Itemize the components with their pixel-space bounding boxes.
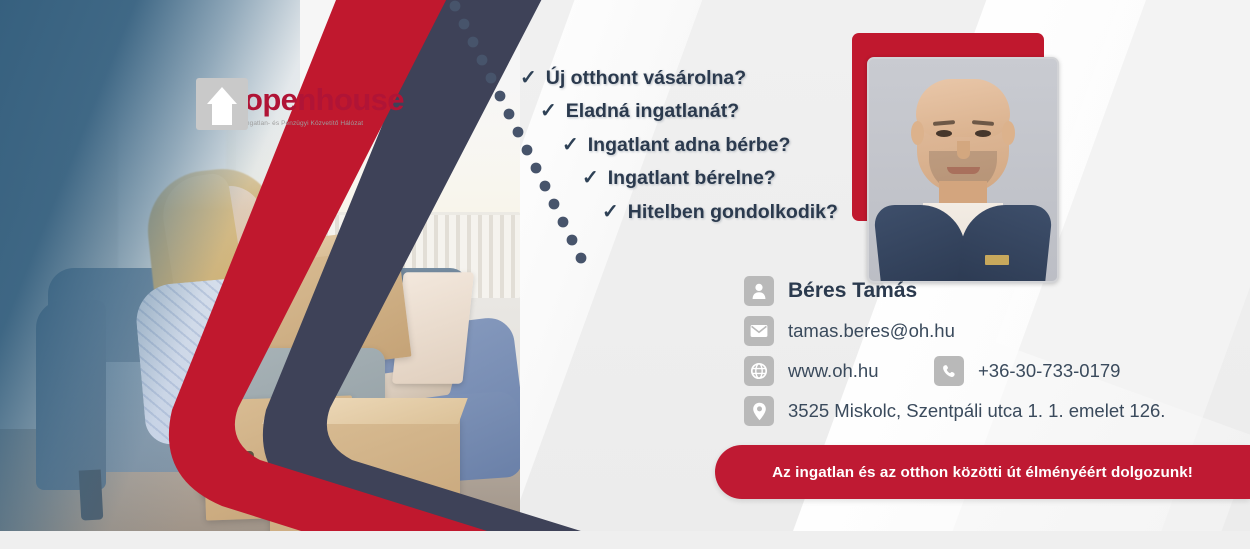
logo-wordmark: openhouse [244,84,404,115]
envelope-icon [744,316,774,346]
logo-text-group: openhouse Ingatlan- és Pénzügyi Közvetít… [244,78,404,127]
checklist-item: ✓ Eladná ingatlanát? [520,101,850,122]
portrait-photo [867,57,1059,283]
openhouse-logo[interactable]: openhouse Ingatlan- és Pénzügyi Közvetít… [196,78,404,130]
contact-row-name: Béres Tamás [744,276,1165,306]
email-text: tamas.beres@oh.hu [788,320,955,342]
logo-tagline: Ingatlan- és Pénzügyi Közvetítő Hálózat [244,120,404,127]
check-icon: ✓ [582,168,599,188]
contact-row-address: 3525 Miskolc, Szentpáli utca 1. 1. emele… [744,396,1165,426]
website-text[interactable]: www.oh.hu [788,360,934,382]
checklist-item: ✓ Új otthont vásárolna? [520,68,850,89]
contact-row-web-phone: www.oh.hu +36-30-733-0179 [744,356,1165,386]
globe-icon [744,356,774,386]
house-icon [196,78,248,130]
lapel-badge [985,255,1009,265]
checklist-item: ✓ Hitelben gondolkodik? [520,202,850,223]
phone-text[interactable]: +36-30-733-0179 [978,360,1120,382]
person-icon [744,276,774,306]
checklist-label: Ingatlant bérelne? [608,168,776,189]
checklist-label: Új otthont vásárolna? [546,68,746,89]
checklist-label: Ingatlant adna bérbe? [588,135,791,156]
promotional-banner: openhouse Ingatlan- és Pénzügyi Közvetít… [0,0,1250,549]
checklist-label: Eladná ingatlanát? [566,101,739,122]
agent-name: Béres Tamás [788,279,917,303]
slogan-text: Az ingatlan és az otthon közötti út élmé… [772,464,1193,481]
check-icon: ✓ [520,68,537,88]
location-pin-icon [744,396,774,426]
contact-row-email[interactable]: tamas.beres@oh.hu [744,316,1165,346]
check-icon: ✓ [540,101,557,121]
phone-icon [934,356,964,386]
checklist-item: ✓ Ingatlant bérelne? [520,168,850,189]
address-text: 3525 Miskolc, Szentpáli utca 1. 1. emele… [788,400,1165,422]
check-icon: ✓ [562,135,579,155]
contact-block: Béres Tamás tamas.beres@oh.hu www.oh.hu [744,276,1165,436]
service-checklist: ✓ Új otthont vásárolna? ✓ Eladná ingatla… [520,68,850,235]
slogan-banner: Az ingatlan és az otthon közötti út élmé… [715,445,1250,499]
checklist-item: ✓ Ingatlant adna bérbe? [520,135,850,156]
check-icon: ✓ [602,202,619,222]
checklist-label: Hitelben gondolkodik? [628,202,838,223]
bottom-strip [0,531,1250,549]
